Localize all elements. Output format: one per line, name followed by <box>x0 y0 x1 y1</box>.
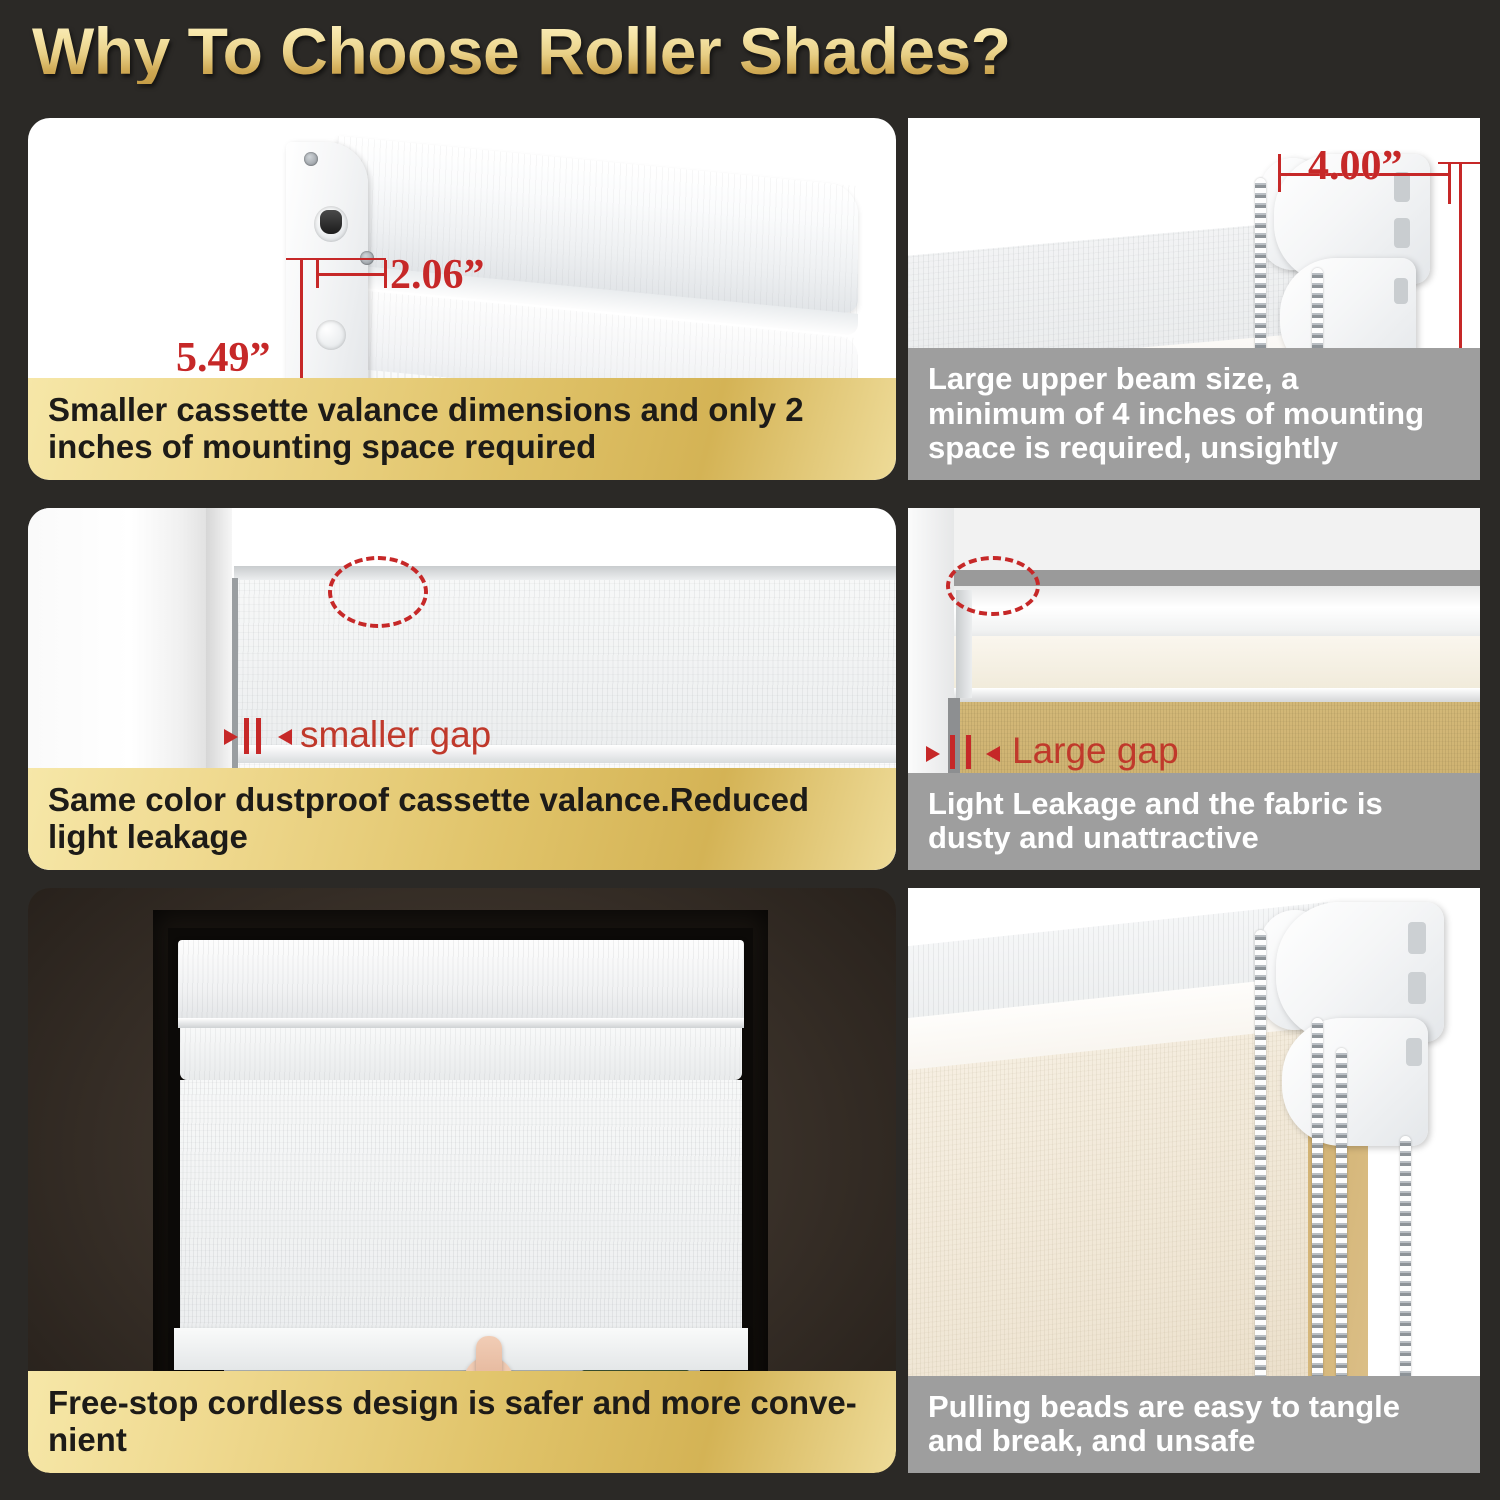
gap-tick <box>966 735 971 769</box>
caption-line: nient <box>48 1422 878 1459</box>
panel-large-gap: Large gap Light Leakage and the fabric i… <box>908 508 1480 870</box>
height-dimension-label: 5.49” <box>176 334 271 382</box>
gap-arrow-right-icon <box>926 746 940 762</box>
panel-caption-cordless: Free-stop cordless design is safer and m… <box>28 1371 896 1473</box>
caption-line: Free-stop cordless design is safer and m… <box>48 1385 878 1422</box>
panel-caption-large-gap: Light Leakage and the fabric is dusty an… <box>908 773 1480 870</box>
gap-tick <box>244 718 249 754</box>
width-dimension-tick <box>384 260 387 288</box>
panel-smaller-cassette: 2.06” 5.49” Smaller cassette valance dim… <box>28 118 896 480</box>
gap-arrow-right-icon <box>224 729 238 745</box>
gap-label: smaller gap <box>300 714 491 756</box>
lower-clutch-icon <box>316 320 346 350</box>
gap-arrow-left-icon <box>278 729 292 745</box>
caption-line: space is required, unsightly <box>928 431 1462 466</box>
gap-tick <box>950 735 955 769</box>
caption-line: inches of mounting space required <box>48 429 878 466</box>
caption-line: and break, and unsafe <box>928 1424 1462 1459</box>
shade-cassette <box>178 940 744 1022</box>
panel-cordless-design: Free-stop cordless design is safer and m… <box>28 888 896 1473</box>
panel-caption-smaller-cassette: Smaller cassette valance dimensions and … <box>28 378 896 480</box>
caption-line: dusty and unattractive <box>928 821 1462 856</box>
highlight-circle-icon <box>328 556 428 628</box>
caption-line: Light Leakage and the fabric is <box>928 787 1462 822</box>
panel-pulling-beads: Pulling beads are easy to tangle and bre… <box>908 888 1480 1473</box>
beam-width-tick <box>1278 154 1281 192</box>
panel-caption-large-beam: Large upper beam size, a minimum of 4 in… <box>908 348 1480 480</box>
gap-label: Large gap <box>1012 730 1179 772</box>
highlight-circle-icon <box>946 556 1040 616</box>
cream-fabric-band <box>950 636 1480 694</box>
beam-width-tick <box>1448 162 1451 204</box>
bracket-slot-icon <box>1408 922 1426 954</box>
width-dimension-tick <box>316 258 319 288</box>
panel-caption-smaller-gap: Same color dustproof cassette valance.Re… <box>28 768 896 870</box>
caption-line: Large upper beam size, a <box>928 362 1462 397</box>
shade-fabric-body <box>180 1080 742 1335</box>
screw-icon <box>304 152 318 166</box>
shade-bottom-rail <box>174 1328 748 1370</box>
bracket-slot-icon <box>1394 278 1408 304</box>
title-bar: Why To Choose Roller Shades? <box>0 0 1500 110</box>
white-rail <box>950 688 1480 702</box>
bracket-slot-icon <box>1394 218 1410 248</box>
page-title: Why To Choose Roller Shades? <box>32 18 1011 84</box>
caption-line: minimum of 4 inches of mounting <box>928 397 1462 432</box>
gap-arrow-left-icon <box>986 746 1000 762</box>
bracket-slot-icon <box>1408 972 1426 1004</box>
mounting-bracket-lower <box>1282 1018 1428 1146</box>
width-dimension-line <box>318 273 386 276</box>
gap-tick <box>256 718 261 754</box>
width-dimension-label: 2.06” <box>390 251 485 299</box>
caption-line: light leakage <box>48 819 878 856</box>
caption-line: Smaller cassette valance dimensions and … <box>48 392 878 429</box>
caption-line: Pulling beads are easy to tangle <box>928 1390 1462 1425</box>
shade-head-rail <box>178 1018 744 1028</box>
beam-width-label: 4.00” <box>1308 142 1403 190</box>
height-dimension-top-tick <box>286 258 386 260</box>
panel-smaller-gap: smaller gap Same color dustproof cassett… <box>28 508 896 870</box>
clutch-slot-icon <box>320 210 342 234</box>
panel-large-upper-beam: 4.00” 4.00” Large upper beam size, a min… <box>908 118 1480 480</box>
shade-upper-band <box>180 1028 742 1080</box>
caption-line: Same color dustproof cassette valance.Re… <box>48 782 878 819</box>
panel-caption-pulling-beads: Pulling beads are easy to tangle and bre… <box>908 1376 1480 1473</box>
bracket-slot-icon <box>1406 1038 1422 1066</box>
